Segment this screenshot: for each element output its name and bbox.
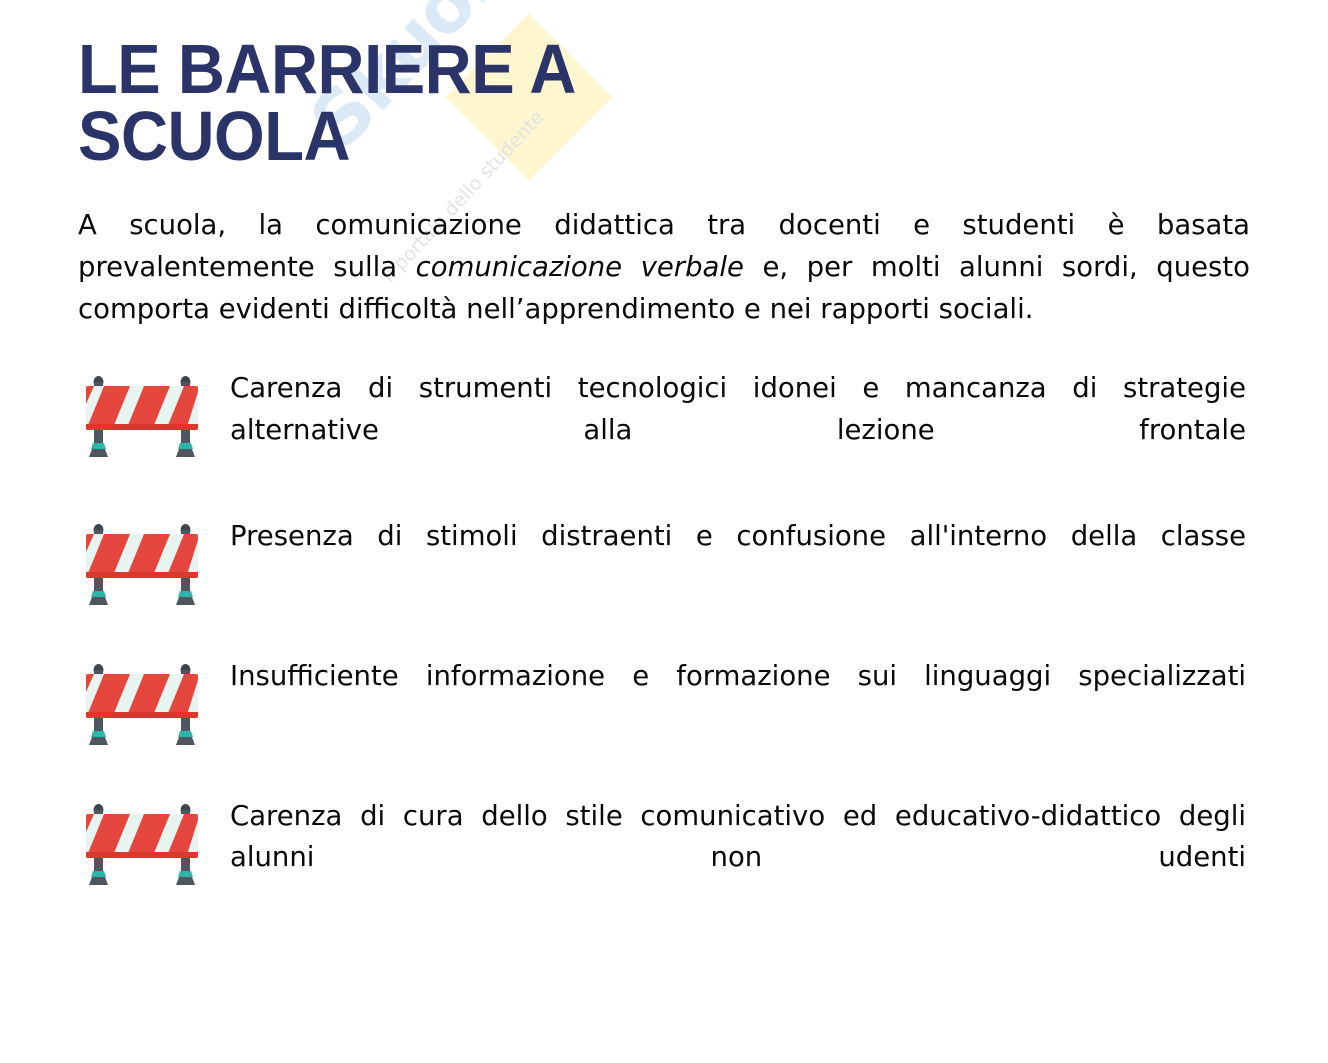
page-title: LE BARRIERE A SCUOLA: [78, 0, 710, 169]
list-item-label: Presenza di stimoli distraenti e confusi…: [230, 514, 1250, 599]
list-item-label: Insufficiente informazione e formazione …: [230, 654, 1250, 739]
road-barrier-icon: [78, 514, 230, 616]
road-barrier-icon: [78, 654, 230, 756]
list-item: Presenza di stimoli distraenti e confusi…: [78, 514, 1250, 632]
slide-content: LE BARRIERE A SCUOLA A scuola, la comuni…: [0, 0, 1328, 920]
intro-paragraph: A scuola, la comunicazione didattica tra…: [78, 205, 1250, 330]
road-barrier-icon: [78, 366, 230, 468]
list-item-label: Carenza di strumenti tecnologici idonei …: [230, 366, 1250, 492]
intro-emphasis: comunicazione verbale: [416, 251, 744, 283]
list-item: Carenza di strumenti tecnologici idonei …: [78, 366, 1250, 492]
list-item-label: Carenza di cura dello stile comunicativo…: [230, 794, 1250, 920]
slide-canvas: Skuola.net il portale dello studente LE …: [0, 0, 1328, 1063]
road-barrier-icon: [78, 794, 230, 896]
list-item: Carenza di cura dello stile comunicativo…: [78, 794, 1250, 920]
list-item: Insufficiente informazione e formazione …: [78, 654, 1250, 772]
barrier-list: Carenza di strumenti tecnologici idonei …: [78, 366, 1250, 920]
